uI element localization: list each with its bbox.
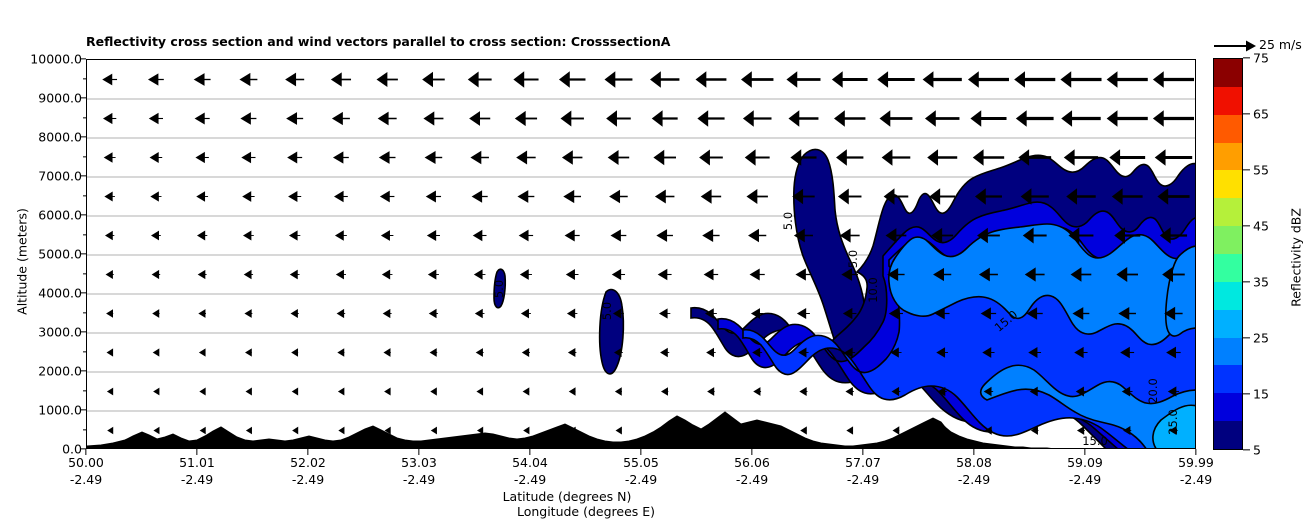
y-tick-minor bbox=[83, 429, 86, 430]
contour-label: 10.0 bbox=[866, 277, 880, 303]
colorbar-band bbox=[1214, 393, 1242, 421]
x-tick-label-longitude: -2.49 bbox=[292, 472, 324, 487]
wind-vector-head bbox=[245, 271, 251, 279]
y-tick-minor bbox=[83, 117, 86, 118]
wind-vector-head bbox=[520, 231, 528, 241]
contour-label: 5.0 bbox=[600, 302, 614, 320]
colorbar-tick-label: 55 bbox=[1253, 163, 1269, 178]
wind-vector-head bbox=[569, 349, 575, 356]
wind-vector-head bbox=[430, 310, 436, 318]
wind-vector-head bbox=[521, 270, 528, 279]
wind-vector-head bbox=[524, 427, 529, 433]
wind-vector-head bbox=[426, 152, 436, 163]
colorbar-band bbox=[1214, 282, 1242, 310]
x-tick-label-longitude: -2.49 bbox=[736, 472, 768, 487]
wind-vector-head bbox=[796, 269, 805, 280]
colorbar-tick-label: 15 bbox=[1253, 387, 1269, 402]
wind-vector-head bbox=[149, 74, 158, 85]
x-tick-label-longitude: -2.49 bbox=[1180, 472, 1212, 487]
wind-vector-head bbox=[291, 271, 298, 279]
wind-vector-head bbox=[293, 388, 298, 394]
y-tick-minor bbox=[83, 234, 86, 235]
x-tick-label-latitude: 52.02 bbox=[290, 455, 326, 470]
wind-vector-head bbox=[801, 427, 806, 433]
wind-vector-head bbox=[524, 388, 529, 395]
y-tick-mark bbox=[80, 214, 86, 215]
wind-vector-head bbox=[292, 349, 297, 356]
wind-vector-head bbox=[291, 310, 297, 317]
wind-vector-head bbox=[1107, 72, 1117, 86]
wind-vector-head bbox=[1062, 111, 1072, 125]
y-tick-minor bbox=[83, 195, 86, 196]
x-tick-label-latitude: 54.04 bbox=[512, 455, 548, 470]
colorbar-tick bbox=[1243, 57, 1250, 58]
y-tick-label: 4000.0 bbox=[38, 286, 82, 301]
wind-vector-head bbox=[568, 309, 575, 317]
y-tick-mark bbox=[80, 58, 86, 59]
colorbar-band bbox=[1214, 365, 1242, 393]
colorbar-tick bbox=[1243, 337, 1250, 338]
cross-section-plot: 5.05.05.05.010.015.020.025.015.0 bbox=[86, 59, 1196, 449]
wind-vector-head bbox=[1107, 111, 1117, 125]
wind-vector-head bbox=[246, 388, 251, 394]
y-tick-label: 7000.0 bbox=[38, 169, 82, 184]
contour-label: 5.0 bbox=[781, 212, 795, 230]
wind-vector-head bbox=[153, 271, 159, 278]
wind-vector-head bbox=[974, 150, 984, 164]
wind-vector-head bbox=[751, 269, 760, 279]
wind-vector-head bbox=[247, 428, 252, 434]
wind-vector-head bbox=[705, 270, 713, 280]
x-axis-title-latitude: Latitude (degrees N) bbox=[0, 489, 1304, 504]
y-tick-mark bbox=[80, 97, 86, 98]
wind-vector-head bbox=[427, 191, 436, 201]
wind-vector-head bbox=[839, 190, 849, 204]
x-tick-label-longitude: -2.49 bbox=[181, 472, 213, 487]
x-tick-label-latitude: 53.03 bbox=[401, 455, 437, 470]
wind-vector-head bbox=[246, 349, 251, 356]
wind-vector-head bbox=[379, 113, 389, 125]
wind-vector-head bbox=[661, 349, 667, 357]
wind-vector-head bbox=[106, 232, 112, 240]
x-tick-label-latitude: 50.00 bbox=[68, 455, 104, 470]
wind-vector-head bbox=[837, 150, 847, 164]
wind-vector-head bbox=[1065, 150, 1075, 164]
wind-vector-head bbox=[383, 270, 390, 278]
wind-vector-head bbox=[429, 270, 436, 278]
wind-vector-head bbox=[477, 349, 483, 356]
wind-vector-head bbox=[104, 114, 112, 123]
wind-vector-head bbox=[431, 349, 437, 356]
wind-vector-head bbox=[847, 427, 852, 434]
wind-vector-head bbox=[835, 111, 845, 125]
colorbar-band bbox=[1214, 170, 1242, 198]
wind-vector-head bbox=[517, 151, 527, 163]
x-tick-label-longitude: -2.49 bbox=[403, 472, 435, 487]
wind-vector-head bbox=[432, 428, 437, 434]
wind-vector-head bbox=[287, 113, 296, 124]
wind-vector-head bbox=[882, 150, 892, 164]
y-tick-mark bbox=[80, 253, 86, 254]
wind-vector-head bbox=[290, 231, 297, 240]
title-line-1: Reflectivity cross section and wind vect… bbox=[86, 35, 886, 50]
x-tick-label-latitude: 59.99 bbox=[1178, 455, 1214, 470]
wind-vector-head bbox=[473, 191, 482, 202]
wind-vector-head bbox=[570, 388, 575, 395]
wind-vector-head bbox=[335, 192, 343, 202]
colorbar-tick bbox=[1243, 281, 1250, 282]
wind-vector-head bbox=[1015, 72, 1025, 86]
colorbar-band bbox=[1214, 115, 1242, 143]
colorbar-title: Reflectivity dBZ bbox=[1289, 148, 1304, 368]
wind-vector-head bbox=[893, 427, 898, 434]
colorbar-tick-label: 35 bbox=[1253, 275, 1269, 290]
wind-vector-head bbox=[338, 349, 343, 356]
wind-vector-head bbox=[657, 230, 666, 241]
wind-vector-head bbox=[662, 388, 668, 395]
wind-vector-head bbox=[1078, 427, 1084, 434]
wind-vector-head bbox=[151, 153, 159, 162]
wind-vector-head bbox=[616, 427, 621, 433]
wind-vector-head bbox=[518, 191, 527, 202]
wind-vector-head bbox=[1061, 72, 1071, 86]
y-tick-minor bbox=[83, 78, 86, 79]
y-tick-mark bbox=[80, 331, 86, 332]
y-tick-label: 9000.0 bbox=[38, 91, 82, 106]
y-tick-mark bbox=[80, 370, 86, 371]
wind-vector-head bbox=[243, 192, 251, 201]
wind-vector-head bbox=[471, 152, 481, 164]
wind-vector-head bbox=[696, 72, 706, 86]
chart-page: Reflectivity cross section and wind vect… bbox=[0, 0, 1304, 526]
colorbar bbox=[1213, 58, 1243, 450]
contour-label: 20.0 bbox=[1146, 378, 1160, 404]
colorbar-tick-label: 45 bbox=[1253, 219, 1269, 234]
wind-vector-head bbox=[923, 72, 933, 86]
x-axis-title-longitude-text: Longitude (degrees E) bbox=[517, 504, 655, 519]
colorbar-band bbox=[1214, 421, 1242, 449]
y-tick-mark bbox=[80, 409, 86, 410]
colorbar-tick bbox=[1243, 113, 1250, 114]
contour-label: 15.0 bbox=[1082, 434, 1108, 448]
wind-vector-head bbox=[561, 112, 571, 126]
wind-vector-head bbox=[240, 74, 250, 85]
wind-vector-head bbox=[560, 72, 570, 86]
wind-vector-head bbox=[105, 192, 112, 200]
contour-label: 5.0 bbox=[492, 280, 506, 298]
wind-vector-head bbox=[474, 231, 482, 241]
y-tick-minor bbox=[83, 390, 86, 391]
x-tick-label-longitude: -2.49 bbox=[70, 472, 102, 487]
wind-vector-head bbox=[707, 349, 713, 357]
colorbar-band bbox=[1214, 198, 1242, 226]
wind-vector-head bbox=[969, 72, 979, 86]
wind-vector-head bbox=[787, 72, 797, 86]
wind-vector-head bbox=[566, 230, 575, 240]
x-tick-label-latitude: 57.07 bbox=[845, 455, 881, 470]
x-tick-label-latitude: 58.08 bbox=[956, 455, 992, 470]
contour-label: 25.0 bbox=[1166, 409, 1180, 435]
wind-vector-head bbox=[516, 112, 526, 125]
wind-vector-head bbox=[199, 310, 205, 317]
wind-vector-head bbox=[196, 113, 205, 123]
wind-vector-head bbox=[833, 72, 843, 86]
x-tick-label-latitude: 55.05 bbox=[623, 455, 659, 470]
wind-vector-head bbox=[1154, 72, 1164, 86]
y-tick-minor bbox=[83, 273, 86, 274]
wind-reference-key: 25 m/s bbox=[1213, 38, 1303, 56]
wind-vector-head bbox=[332, 73, 342, 85]
y-tick-label: 5000.0 bbox=[38, 247, 82, 262]
y-tick-label: 6000.0 bbox=[38, 208, 82, 223]
wind-vector-head bbox=[476, 310, 482, 318]
wind-vector-head bbox=[424, 112, 434, 124]
wind-vector-head bbox=[195, 74, 204, 85]
y-tick-mark bbox=[80, 136, 86, 137]
wind-vector-head bbox=[754, 388, 760, 395]
colorbar-band bbox=[1214, 254, 1242, 282]
wind-vector-head bbox=[201, 428, 206, 434]
y-tick-label: 1000.0 bbox=[38, 403, 82, 418]
wind-vector-head bbox=[431, 388, 436, 394]
wind-vector-head bbox=[334, 152, 343, 163]
wind-vector-head bbox=[150, 114, 158, 124]
colorbar-band bbox=[1214, 87, 1242, 115]
wind-vector-head bbox=[514, 72, 524, 86]
y-tick-label: 10000.0 bbox=[30, 52, 82, 67]
wind-vector-head bbox=[654, 151, 664, 165]
colorbar-tick bbox=[1243, 225, 1250, 226]
wind-vector-head bbox=[154, 428, 159, 434]
wind-vector-head bbox=[197, 192, 204, 201]
wind-vector-head bbox=[702, 190, 712, 203]
x-tick-label-longitude: -2.49 bbox=[514, 472, 546, 487]
y-tick-mark bbox=[80, 175, 86, 176]
wind-vector-head bbox=[385, 388, 390, 394]
wind-vector-head bbox=[200, 349, 205, 355]
wind-vector-head bbox=[289, 192, 297, 201]
colorbar-tick-label: 5 bbox=[1253, 443, 1261, 458]
wind-vector-head bbox=[522, 309, 529, 317]
wind-vector-head bbox=[651, 72, 661, 86]
wind-vector-head bbox=[656, 190, 666, 202]
wind-vector-head bbox=[1017, 111, 1027, 125]
wind-vector-head bbox=[106, 271, 112, 278]
x-tick-label-latitude: 59.09 bbox=[1067, 455, 1103, 470]
wind-vector-head bbox=[653, 111, 663, 125]
colorbar-band bbox=[1214, 59, 1242, 87]
y-tick-minor bbox=[83, 156, 86, 157]
wind-vector-head bbox=[607, 111, 617, 125]
wind-vector-head bbox=[880, 111, 890, 125]
x-tick-label-latitude: 56.06 bbox=[734, 455, 770, 470]
colorbar-tick bbox=[1243, 449, 1250, 450]
wind-vector-head bbox=[108, 388, 113, 394]
wind-vector-head bbox=[609, 151, 619, 164]
colorbar-tick bbox=[1243, 169, 1250, 170]
contour-label: 5.0 bbox=[846, 250, 860, 268]
colorbar-band bbox=[1214, 338, 1242, 366]
wind-vector-head bbox=[469, 72, 479, 86]
wind-vector-head bbox=[470, 112, 480, 125]
wind-vector-head bbox=[928, 150, 938, 164]
wind-vector-head bbox=[746, 150, 756, 164]
wind-vector-head bbox=[339, 428, 344, 434]
colorbar-tick-label: 65 bbox=[1253, 107, 1269, 122]
wind-vector-head bbox=[288, 152, 297, 162]
wind-vector-head bbox=[339, 388, 344, 394]
colorbar-tick-label: 25 bbox=[1253, 331, 1269, 346]
wind-vector-head bbox=[660, 309, 667, 318]
wind-vector-head bbox=[563, 151, 573, 164]
y-tick-mark bbox=[80, 292, 86, 293]
wind-vector-head bbox=[800, 388, 806, 395]
wind-vector-head bbox=[199, 271, 205, 279]
wind-vector-head bbox=[878, 72, 888, 86]
wind-vector-head bbox=[333, 113, 343, 124]
wind-vector-head bbox=[478, 428, 483, 434]
wind-vector-head bbox=[744, 111, 754, 125]
y-tick-label: 8000.0 bbox=[38, 130, 82, 145]
wind-vector-head bbox=[523, 349, 529, 356]
wind-vector-head bbox=[200, 388, 205, 394]
wind-vector-head bbox=[605, 72, 615, 86]
wind-vector-head bbox=[108, 428, 113, 434]
wind-vector-head bbox=[377, 73, 387, 86]
x-tick-label-longitude: -2.49 bbox=[847, 472, 879, 487]
wind-vector-head bbox=[747, 190, 757, 203]
y-tick-minor bbox=[83, 312, 86, 313]
x-tick-label-longitude: -2.49 bbox=[958, 472, 990, 487]
y-tick-label: 2000.0 bbox=[38, 364, 82, 379]
y-axis-title: Altitude (meters) bbox=[15, 132, 30, 392]
wind-vector-head bbox=[337, 270, 344, 278]
wind-vector-head bbox=[105, 153, 112, 162]
wind-vector-head bbox=[381, 192, 389, 202]
wind-vector-head bbox=[659, 270, 667, 280]
wind-vector-head bbox=[752, 309, 760, 318]
plot-canvas bbox=[87, 60, 1196, 449]
wind-vector-head bbox=[293, 428, 298, 434]
wind-vector-head bbox=[610, 191, 620, 203]
wind-vector-head bbox=[428, 231, 436, 240]
wind-vector-head bbox=[971, 111, 981, 125]
y-tick-minor bbox=[83, 351, 86, 352]
wind-vector-head bbox=[1154, 111, 1164, 125]
wind-vector-head bbox=[846, 388, 852, 395]
wind-vector-head bbox=[380, 152, 389, 163]
wind-vector-head bbox=[475, 270, 482, 279]
wind-vector-head bbox=[196, 153, 204, 162]
wind-vector-head bbox=[107, 349, 112, 355]
x-axis-title-latitude-text: Latitude (degrees N) bbox=[503, 489, 632, 504]
wind-vector-head bbox=[749, 230, 759, 242]
wind-vector-head bbox=[153, 310, 159, 317]
wind-vector-head bbox=[286, 74, 296, 86]
wind-vector-head bbox=[703, 230, 713, 241]
arrow-right-icon bbox=[1213, 38, 1257, 54]
wind-vector-head bbox=[198, 231, 205, 239]
wind-vector-head bbox=[151, 192, 158, 200]
wind-vector-head bbox=[245, 310, 251, 317]
wind-vector-head bbox=[152, 232, 159, 240]
wind-vector-head bbox=[698, 111, 708, 125]
wind-vector-head bbox=[700, 150, 710, 164]
wind-vector-head bbox=[564, 191, 574, 202]
y-tick-label: 3000.0 bbox=[38, 325, 82, 340]
wind-vector-head bbox=[1110, 150, 1120, 164]
wind-vector-head bbox=[242, 153, 250, 163]
wind-vector-head bbox=[567, 270, 575, 279]
colorbar-tick bbox=[1243, 393, 1250, 394]
wind-vector-head bbox=[107, 310, 112, 317]
wind-vector-head bbox=[154, 349, 159, 355]
wind-vector-head bbox=[789, 111, 799, 125]
wind-vector-head bbox=[384, 310, 390, 318]
x-axis-title-longitude: Longitude (degrees E) bbox=[0, 504, 1304, 519]
wind-vector-head bbox=[338, 310, 344, 317]
x-tick-label-latitude: 51.01 bbox=[179, 455, 215, 470]
wind-vector-head bbox=[384, 349, 390, 356]
colorbar-band bbox=[1214, 226, 1242, 254]
wind-vector-head bbox=[613, 270, 621, 279]
x-tick-label-longitude: -2.49 bbox=[1069, 472, 1101, 487]
wind-vector-head bbox=[477, 388, 482, 394]
colorbar-band bbox=[1214, 143, 1242, 171]
wind-vector-head bbox=[423, 73, 433, 87]
wind-vector-head bbox=[1156, 150, 1166, 164]
wind-reference-label: 25 m/s bbox=[1259, 37, 1302, 52]
wind-vector-head bbox=[926, 111, 936, 125]
wind-vector-head bbox=[103, 74, 112, 84]
wind-vector-head bbox=[382, 231, 390, 240]
wind-vector-head bbox=[611, 230, 620, 241]
x-tick-label-longitude: -2.49 bbox=[625, 472, 657, 487]
wind-vector-head bbox=[798, 309, 806, 318]
wind-vector-head bbox=[241, 113, 250, 124]
wind-vector-head bbox=[791, 150, 801, 164]
wind-vector-head bbox=[742, 72, 752, 86]
wind-vector-head bbox=[244, 231, 251, 239]
wind-vector-head bbox=[336, 231, 343, 240]
wind-vector-head bbox=[154, 388, 159, 394]
colorbar-band bbox=[1214, 310, 1242, 338]
wind-vector-head bbox=[708, 388, 714, 395]
wind-vector-head bbox=[616, 388, 621, 395]
